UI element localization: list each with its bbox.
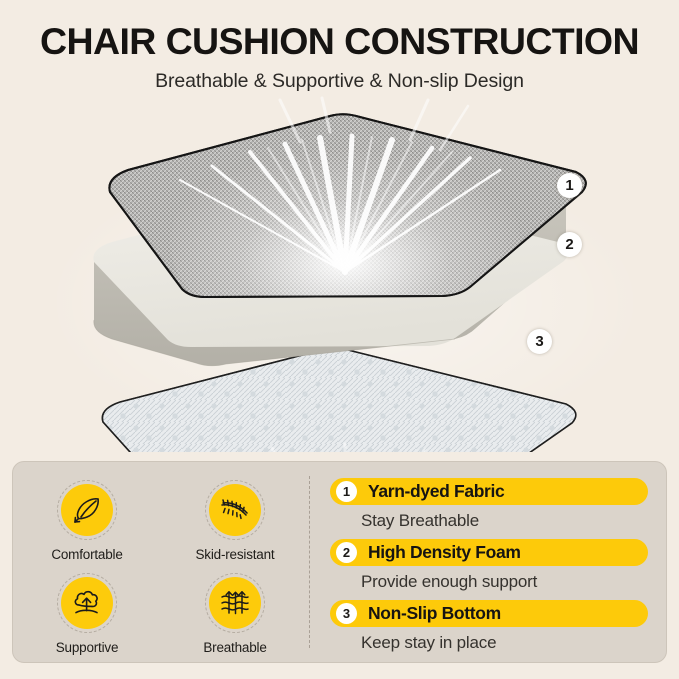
list-item: 2 High Density Foam Provide enough suppo…: [330, 539, 648, 600]
list-item: 1 Yarn-dyed Fabric Stay Breathable: [330, 478, 648, 539]
header: CHAIR CUSHION CONSTRUCTION Breathable & …: [0, 0, 679, 93]
feature-comfortable: Comfortable: [27, 484, 147, 562]
feature-title-pill-3: 3 Non-Slip Bottom: [330, 600, 648, 627]
feature-subtitle: Stay Breathable: [361, 511, 648, 531]
feature-subtitle: Provide enough support: [361, 572, 648, 592]
feather-icon: [61, 484, 113, 536]
page-title: CHAIR CUSHION CONSTRUCTION: [0, 22, 679, 61]
layer-badge-3: 3: [527, 329, 552, 354]
layer-badge-2: 2: [557, 232, 582, 257]
feature-label: Comfortable: [51, 547, 122, 562]
feature-supportive: Supportive: [27, 577, 147, 655]
cushion-exploded-diagram: 1 2 3: [0, 92, 679, 452]
layer-badge-1: 1: [557, 173, 582, 198]
feature-label: Supportive: [56, 640, 119, 655]
feature-label: Breathable: [203, 640, 266, 655]
feature-number: 1: [336, 481, 357, 502]
feature-breathable: Breathable: [175, 577, 295, 655]
feature-number: 3: [336, 603, 357, 624]
skid-resistant-icon: [209, 484, 261, 536]
features-panel: Comfortable: [12, 461, 667, 663]
page-subtitle: Breathable & Supportive & Non-slip Desig…: [0, 70, 679, 93]
icon-features-grid: Comfortable: [13, 462, 309, 662]
feature-label: Skid-resistant: [196, 547, 275, 562]
feature-title-pill-1: 1 Yarn-dyed Fabric: [330, 478, 648, 505]
feature-subtitle: Keep stay in place: [361, 633, 648, 653]
feature-title: Yarn-dyed Fabric: [368, 481, 504, 502]
supportive-cushion-icon: [61, 577, 113, 629]
feature-skid-resistant: Skid-resistant: [175, 484, 295, 562]
feature-number: 2: [336, 542, 357, 563]
feature-title: Non-Slip Bottom: [368, 603, 501, 624]
feature-title: High Density Foam: [368, 542, 521, 563]
feature-title-pill-2: 2 High Density Foam: [330, 539, 648, 566]
layer-feature-list: 1 Yarn-dyed Fabric Stay Breathable 2 Hig…: [310, 462, 666, 662]
breathable-airflow-icon: [209, 577, 261, 629]
list-item: 3 Non-Slip Bottom Keep stay in place: [330, 600, 648, 661]
